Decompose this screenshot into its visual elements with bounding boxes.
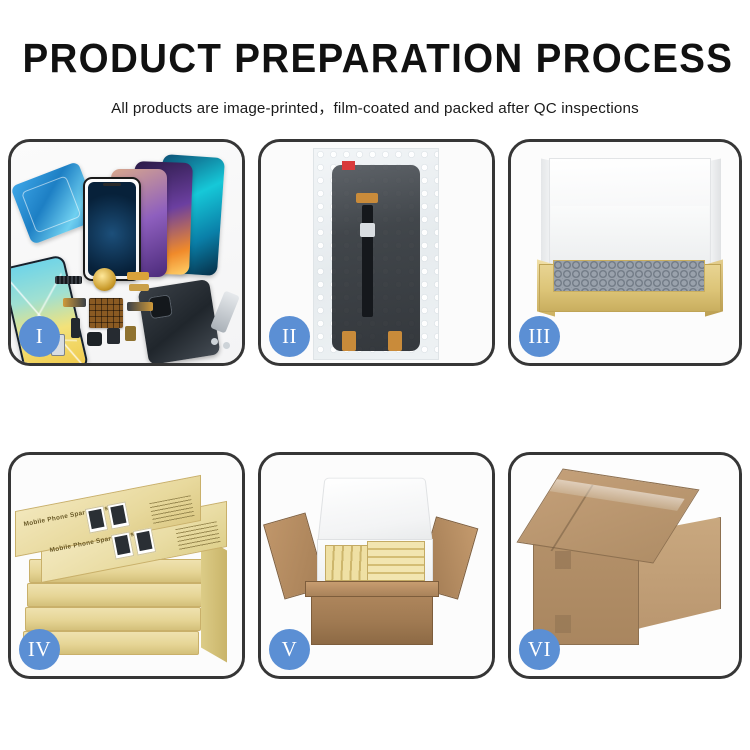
spare-part-flex-cable-b — [129, 284, 149, 291]
lcd-gold-contact-left — [342, 331, 356, 351]
red-qc-label — [342, 161, 355, 170]
spare-part-flex-cable-a — [127, 272, 149, 280]
spare-part-flex-cable-d — [127, 302, 153, 311]
repair-tweezers — [210, 290, 240, 333]
carton-handle-cutout-bottom — [555, 615, 571, 633]
bubble-wrapped-contents — [553, 260, 705, 292]
product-preparation-infographic: PRODUCT PREPARATION PROCESS All products… — [0, 0, 750, 750]
step-panel-5: V — [258, 452, 495, 679]
step-panel-4: Mobile Phone Spare Parts Mobile Phone Sp… — [8, 452, 245, 679]
white-foam-sheet — [551, 206, 709, 268]
spare-part-speaker — [107, 328, 120, 344]
lcd-flex-ribbon — [362, 205, 373, 317]
step-panel-2: II — [258, 139, 495, 366]
badge-step-4: IV — [19, 629, 60, 670]
spare-part-screw-a — [211, 338, 218, 345]
step-panel-1: I — [8, 139, 245, 366]
page-title: PRODUCT PREPARATION PROCESS — [23, 38, 728, 79]
spare-part-gold-contact — [125, 326, 136, 341]
header: PRODUCT PREPARATION PROCESS All products… — [0, 0, 750, 118]
process-steps-grid: I II — [8, 139, 742, 679]
phone-back-cover — [137, 279, 220, 363]
page-subtitle: All products are image-printed，film-coat… — [0, 96, 750, 118]
foam-lid-open — [317, 478, 433, 545]
spare-part-connector — [55, 276, 82, 284]
badge-step-2: II — [269, 316, 310, 357]
step-panel-6: VI — [508, 452, 742, 679]
carton-handle-cutout-top — [555, 551, 571, 569]
badge-step-1: I — [19, 316, 60, 357]
lcd-connector — [356, 193, 378, 203]
spare-part-screw-b — [223, 342, 230, 349]
wireless-charging-coil — [93, 268, 116, 291]
carton-flap-front — [305, 581, 439, 597]
badge-step-3: III — [519, 316, 560, 357]
spare-part-camera-module — [87, 332, 102, 346]
phone-screen-front-white — [83, 177, 141, 281]
lcd-gold-contact-right — [388, 331, 402, 351]
step-panel-3: III — [508, 139, 742, 366]
kraft-box-stack-side — [201, 535, 227, 662]
kraft-box-layer-2 — [25, 607, 201, 631]
badge-step-5: V — [269, 629, 310, 670]
kraft-box-layer-3 — [27, 583, 203, 607]
badge-step-6: VI — [519, 629, 560, 670]
spare-part-button-strip — [71, 318, 80, 338]
kraft-boxes-in-carton-second-row — [367, 541, 425, 581]
bubble-wrap-bag — [313, 148, 439, 360]
spare-part-flex-cable-c — [63, 298, 86, 307]
chip-grid-component — [89, 298, 123, 328]
